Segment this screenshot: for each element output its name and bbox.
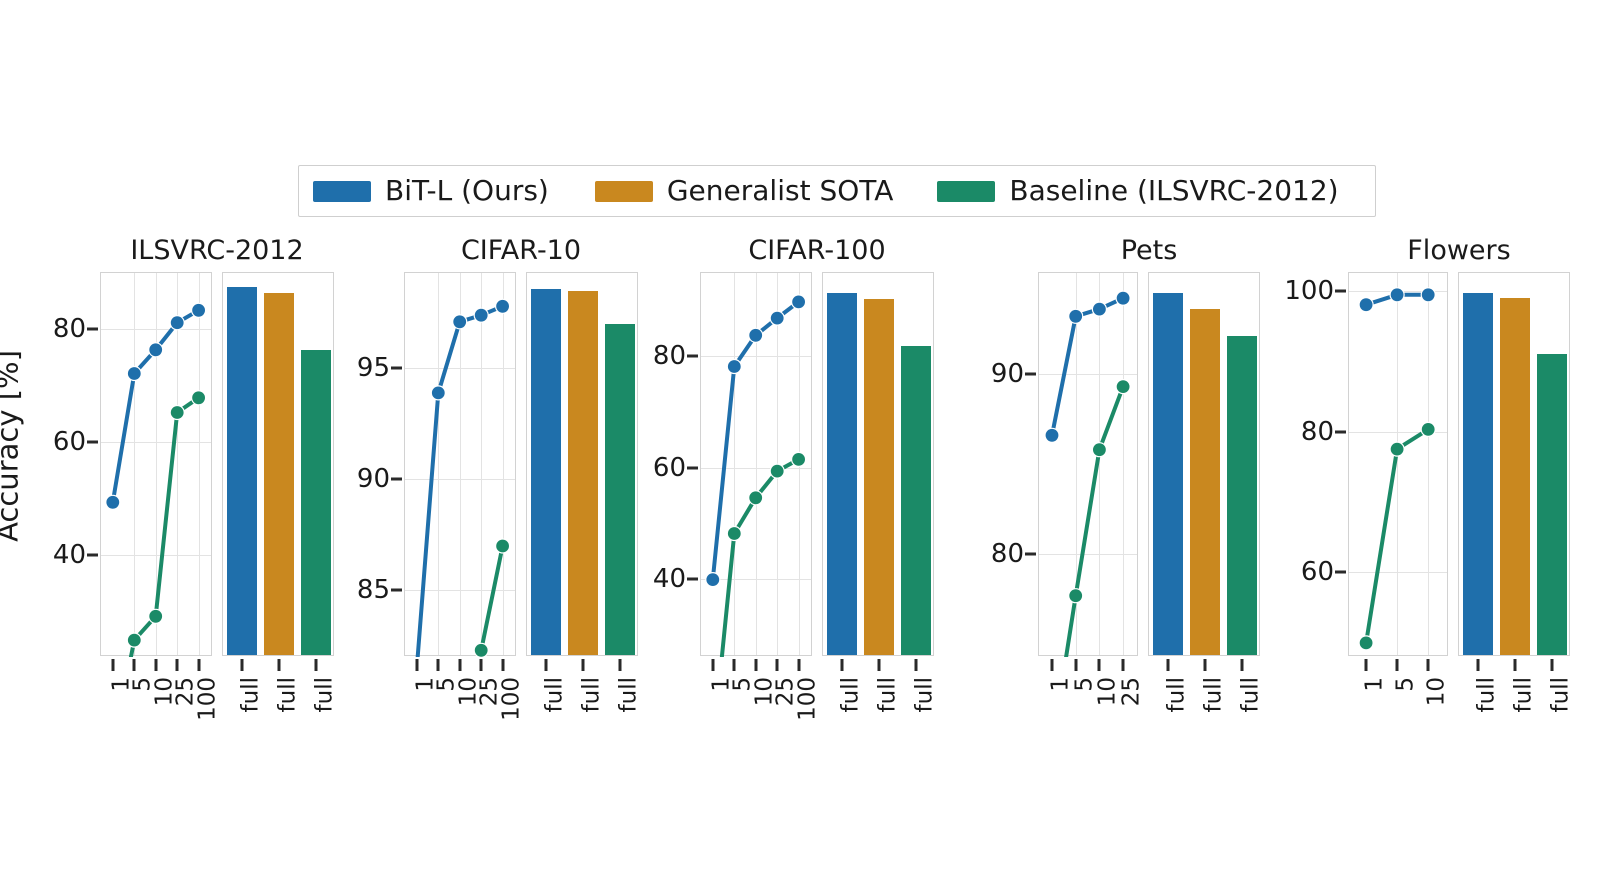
y-tick-label: 60 [53, 429, 86, 455]
legend-entry-baseline: Baseline (ILSVRC-2012) [937, 176, 1338, 206]
series-marker [1092, 443, 1106, 457]
series-marker [1390, 288, 1404, 302]
y-tick-mark [687, 355, 698, 358]
legend-swatch-generalist-sota [595, 181, 653, 202]
x-tick-mark [501, 659, 504, 671]
legend-label-baseline: Baseline (ILSVRC-2012) [1009, 176, 1338, 206]
x-tick-mark [133, 659, 136, 671]
figure-root: BiT-L (Ours) Generalist SOTA Baseline (I… [0, 0, 1600, 891]
x-tick-label: 1 [1050, 677, 1073, 692]
x-tick-mark [1476, 659, 1479, 671]
x-tick-mark [197, 659, 200, 671]
legend-swatch-bit-l [313, 181, 371, 202]
y-tick-label: 80 [991, 541, 1024, 567]
series-marker [1359, 636, 1373, 650]
bar [605, 324, 635, 655]
series-marker [149, 343, 163, 357]
chart-legend: BiT-L (Ours) Generalist SOTA Baseline (I… [298, 165, 1376, 217]
bar-axes: fullfullfull [1458, 272, 1570, 656]
x-tick-mark [315, 659, 318, 671]
y-tick-mark [87, 441, 98, 444]
x-tick-label: 10 [1097, 677, 1120, 706]
line-axes: 859095151025100 [404, 272, 516, 656]
series-overlay [1039, 273, 1139, 657]
panel-cifar-100: CIFAR-100406080151025100fullfullfull [700, 236, 934, 656]
y-tick-label: 60 [653, 455, 686, 481]
series-marker [170, 316, 184, 330]
x-tick-mark [437, 659, 440, 671]
x-tick-mark [1166, 659, 1169, 671]
series-marker [474, 643, 488, 657]
x-tick-mark [619, 659, 622, 671]
x-tick-mark [176, 659, 179, 671]
series-marker [192, 391, 206, 405]
axes-wrapper: 859095151025100fullfullfull [404, 272, 638, 656]
bar-axes: fullfullfull [1148, 272, 1260, 656]
y-tick-label: 40 [53, 542, 86, 568]
series-marker [496, 539, 510, 553]
series-marker [1390, 442, 1404, 456]
series-marker [1069, 309, 1083, 323]
series-marker [749, 491, 763, 505]
line-axes: 406080151025100 [100, 272, 212, 656]
bar [568, 291, 598, 655]
x-tick-mark [840, 659, 843, 671]
series-marker [792, 452, 806, 466]
series-overlay [405, 273, 517, 657]
series-marker [770, 464, 784, 478]
legend-entry-bit-l: BiT-L (Ours) [313, 176, 549, 206]
y-tick-mark [87, 328, 98, 331]
x-tick-mark [1427, 659, 1430, 671]
bar-axes: fullfullfull [526, 272, 638, 656]
x-tick-mark [480, 659, 483, 671]
y-tick-label: 80 [53, 316, 86, 342]
x-tick-mark [544, 659, 547, 671]
x-tick-label: 100 [796, 677, 819, 721]
y-tick-mark [87, 554, 98, 557]
x-tick-label: 100 [196, 677, 219, 721]
x-tick-label: 25 [1121, 677, 1144, 706]
x-tick-mark [797, 659, 800, 671]
series-marker [149, 609, 163, 623]
series-marker [727, 527, 741, 541]
series-marker [453, 315, 467, 329]
panel-flowers: Flowers60801001510fullfullfull [1348, 236, 1570, 656]
axes-wrapper: 60801001510fullfullfull [1348, 272, 1570, 656]
series-overlay [701, 273, 813, 657]
x-tick-mark [111, 659, 114, 671]
bar-axes: fullfullfull [222, 272, 334, 656]
panel-title: Flowers [1348, 236, 1570, 266]
x-tick-label: full [877, 677, 900, 712]
legend-label-bit-l: BiT-L (Ours) [385, 176, 549, 206]
x-tick-mark [582, 659, 585, 671]
x-tick-mark [1241, 659, 1244, 671]
x-tick-mark [776, 659, 779, 671]
series-overlay [1349, 273, 1449, 657]
panel-ilsvrc-2012: ILSVRC-2012406080151025100fullfullfull [100, 236, 334, 656]
x-tick-label: full [239, 677, 262, 712]
bar [1153, 293, 1183, 655]
x-tick-mark [1051, 659, 1054, 671]
series-marker [770, 311, 784, 325]
bar [1463, 293, 1493, 655]
x-tick-label: 5 [1073, 677, 1096, 692]
x-tick-label: full [277, 677, 300, 712]
y-tick-mark [1025, 372, 1036, 375]
y-tick-label: 95 [357, 355, 390, 381]
x-tick-label: full [1513, 677, 1536, 712]
x-tick-mark [1204, 659, 1207, 671]
x-tick-mark [1514, 659, 1517, 671]
x-tick-mark [1396, 659, 1399, 671]
bar [1500, 298, 1530, 655]
y-tick-label: 85 [357, 577, 390, 603]
bar [227, 287, 257, 655]
x-tick-label: full [618, 677, 641, 712]
x-tick-mark [1122, 659, 1125, 671]
bar [827, 293, 857, 655]
bar [264, 293, 294, 655]
x-tick-label: full [314, 677, 337, 712]
bar [1190, 309, 1220, 655]
x-tick-mark [1551, 659, 1554, 671]
series-marker [431, 386, 445, 400]
x-tick-mark [458, 659, 461, 671]
series-marker [1359, 298, 1373, 312]
x-tick-mark [154, 659, 157, 671]
line-axes: 8090151025 [1038, 272, 1138, 656]
x-tick-label: full [839, 677, 862, 712]
series-marker [170, 406, 184, 420]
bar [1227, 336, 1257, 655]
x-tick-mark [711, 659, 714, 671]
y-tick-mark [391, 367, 402, 370]
x-tick-label: full [1475, 677, 1498, 712]
series-marker [106, 495, 120, 509]
x-tick-mark [754, 659, 757, 671]
y-tick-label: 40 [653, 566, 686, 592]
series-marker [727, 360, 741, 374]
x-tick-mark [415, 659, 418, 671]
x-tick-label: 5 [1395, 677, 1418, 692]
x-tick-label: full [1240, 677, 1263, 712]
legend-entry-generalist-sota: Generalist SOTA [595, 176, 894, 206]
y-tick-label: 80 [1301, 419, 1334, 445]
y-tick-mark [1025, 553, 1036, 556]
x-tick-mark [915, 659, 918, 671]
series-marker [192, 303, 206, 317]
y-tick-label: 90 [991, 361, 1024, 387]
legend-swatch-baseline [937, 181, 995, 202]
bar [301, 350, 331, 655]
series-marker [127, 367, 141, 381]
x-tick-label: full [1550, 677, 1573, 712]
y-tick-mark [391, 478, 402, 481]
panel-pets: Pets8090151025fullfullfull [1038, 236, 1260, 656]
y-tick-label: 100 [1284, 278, 1334, 304]
panel-title: ILSVRC-2012 [100, 236, 334, 266]
y-tick-mark [1335, 289, 1346, 292]
series-marker [1045, 428, 1059, 442]
panel-title: CIFAR-10 [404, 236, 638, 266]
line-axes: 406080151025100 [700, 272, 812, 656]
series-marker [127, 633, 141, 647]
axes-wrapper: 8090151025fullfullfull [1038, 272, 1260, 656]
x-tick-label: 100 [500, 677, 523, 721]
series-overlay [101, 273, 213, 657]
line-axes: 60801001510 [1348, 272, 1448, 656]
x-tick-mark [278, 659, 281, 671]
y-tick-label: 80 [653, 343, 686, 369]
bar-axes: fullfullfull [822, 272, 934, 656]
series-marker [706, 573, 720, 587]
legend-label-generalist-sota: Generalist SOTA [667, 176, 894, 206]
axes-wrapper: 406080151025100fullfullfull [700, 272, 934, 656]
panel-cifar-10: CIFAR-10859095151025100fullfullfull [404, 236, 638, 656]
y-tick-label: 90 [357, 466, 390, 492]
bar [531, 289, 561, 655]
x-tick-mark [733, 659, 736, 671]
x-tick-mark [240, 659, 243, 671]
series-marker [1092, 302, 1106, 316]
x-tick-mark [1098, 659, 1101, 671]
x-tick-label: full [543, 677, 566, 712]
series-marker [1069, 589, 1083, 603]
x-tick-label: full [1165, 677, 1188, 712]
x-tick-label: 1 [1364, 677, 1387, 692]
bar [864, 299, 894, 655]
axes-wrapper: 406080151025100fullfullfull [100, 272, 334, 656]
series-marker [474, 308, 488, 322]
bar [901, 346, 931, 655]
y-tick-label: 60 [1301, 559, 1334, 585]
y-tick-mark [1335, 430, 1346, 433]
bar [1537, 354, 1567, 655]
x-tick-mark [1074, 659, 1077, 671]
y-tick-mark [391, 589, 402, 592]
series-marker [1421, 288, 1435, 302]
x-tick-label: full [914, 677, 937, 712]
x-tick-mark [1365, 659, 1368, 671]
x-tick-label: full [1203, 677, 1226, 712]
series-line [713, 302, 799, 580]
x-tick-label: full [581, 677, 604, 712]
series-line [1366, 429, 1428, 643]
x-tick-mark [878, 659, 881, 671]
series-marker [1116, 380, 1130, 394]
y-tick-mark [1335, 571, 1346, 574]
series-marker [1421, 422, 1435, 436]
x-tick-label: 10 [1426, 677, 1449, 706]
series-marker [1116, 291, 1130, 305]
panel-title: CIFAR-100 [700, 236, 934, 266]
series-marker [792, 295, 806, 309]
y-tick-mark [687, 578, 698, 581]
panel-title: Pets [1038, 236, 1260, 266]
series-marker [749, 328, 763, 342]
series-marker [496, 299, 510, 313]
y-tick-mark [687, 466, 698, 469]
y-axis-caption: Accuracy [%] [0, 350, 23, 542]
